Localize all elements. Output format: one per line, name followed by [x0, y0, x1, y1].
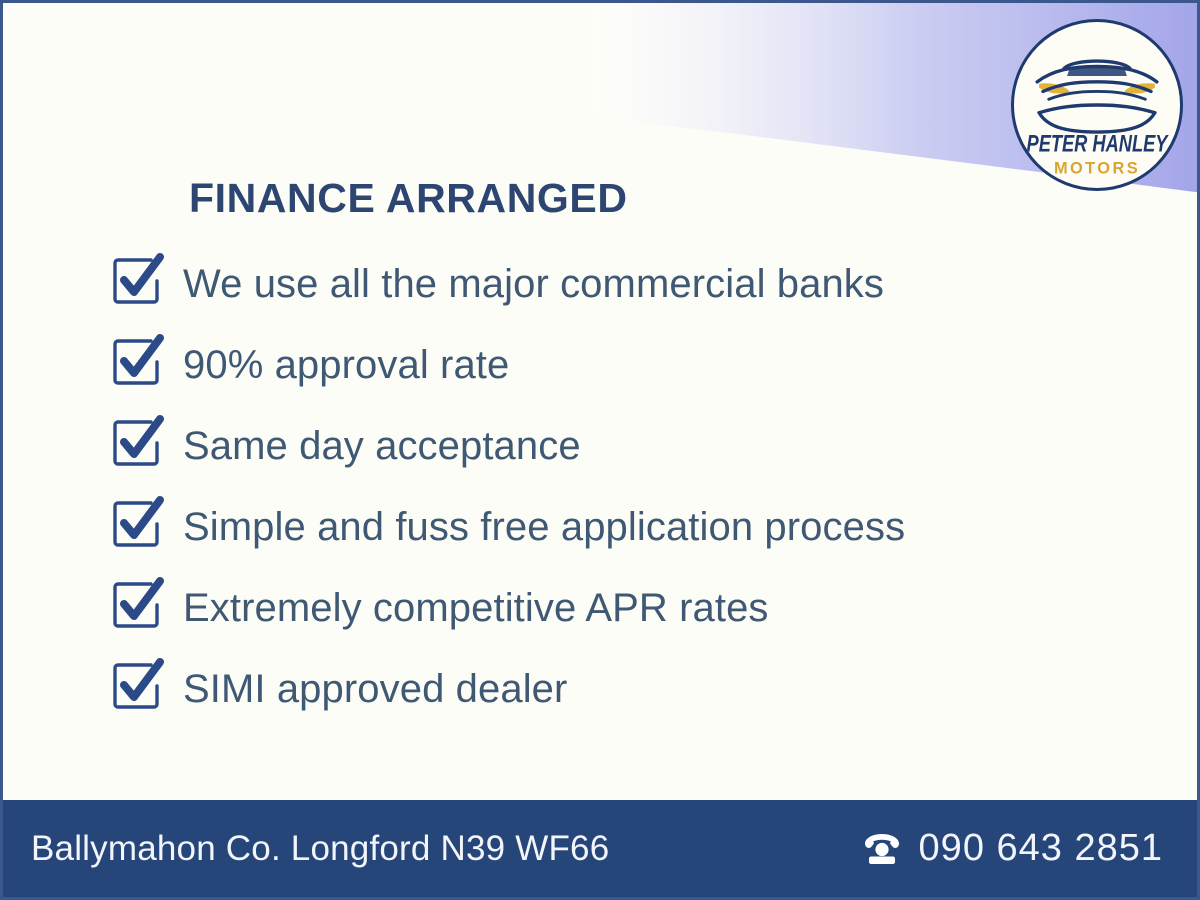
list-item: Same day acceptance [107, 405, 1147, 486]
footer-phone-group[interactable]: 090 643 2851 [861, 827, 1163, 870]
checkbox-checked-icon [107, 413, 169, 475]
logo-brand-name: PETER HANLEY [1027, 130, 1169, 157]
list-item-label: Simple and fuss free application process [183, 507, 905, 547]
logo-graphic: PETER HANLEY MOTORS [1014, 22, 1180, 188]
car-front-icon [1037, 61, 1157, 132]
benefits-checklist: We use all the major commercial banks 90… [107, 243, 1147, 729]
checkbox-checked-icon [107, 494, 169, 556]
list-item-label: SIMI approved dealer [183, 669, 567, 709]
list-item: Simple and fuss free application process [107, 486, 1147, 567]
logo-brand-sub: MOTORS [1054, 160, 1140, 178]
checkbox-checked-icon [107, 656, 169, 718]
footer-bar: Ballymahon Co. Longford N39 WF66 090 643… [3, 800, 1197, 897]
promo-card: PETER HANLEY MOTORS FINANCE ARRANGED We … [0, 0, 1200, 900]
list-item-label: Extremely competitive APR rates [183, 588, 769, 628]
list-item: Extremely competitive APR rates [107, 567, 1147, 648]
checkbox-checked-icon [107, 332, 169, 394]
list-item: 90% approval rate [107, 324, 1147, 405]
footer-address: Ballymahon Co. Longford N39 WF66 [31, 829, 609, 869]
logo-badge: PETER HANLEY MOTORS [1011, 19, 1183, 191]
checkbox-checked-icon [107, 575, 169, 637]
list-item-label: 90% approval rate [183, 345, 509, 385]
footer-phone-number: 090 643 2851 [919, 827, 1163, 870]
list-item: We use all the major commercial banks [107, 243, 1147, 324]
page-title: FINANCE ARRANGED [189, 175, 628, 222]
list-item-label: We use all the major commercial banks [183, 264, 884, 304]
telephone-icon [861, 832, 903, 866]
list-item-label: Same day acceptance [183, 426, 581, 466]
checkbox-checked-icon [107, 251, 169, 313]
list-item: SIMI approved dealer [107, 648, 1147, 729]
